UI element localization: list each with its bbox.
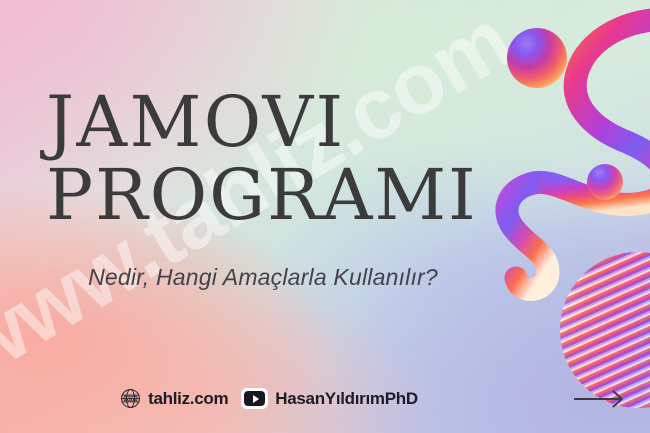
poster-canvas: www.tahliz.com [0,0,650,433]
page-subtitle: Nedir, Hangi Amaçlarla Kullanılır? [0,264,650,291]
globe-www-icon: WWW [120,388,141,409]
website-brand[interactable]: WWW tahliz.com [120,388,228,409]
svg-text:WWW: WWW [125,396,137,401]
website-label: tahliz.com [148,389,228,409]
youtube-channel-label: HasanYıldırımPhD [275,389,418,409]
footer-branding: WWW tahliz.com HasanYıldırımPhD [0,388,650,409]
page-title: JAMOVI PROGRAMI [46,88,586,231]
arrow-right-icon[interactable] [572,388,628,410]
content-block: JAMOVI PROGRAMI Nedir, Hangi Amaçlarla K… [0,0,650,433]
title-line-1: JAMOVI [46,81,346,163]
youtube-play-icon [241,388,268,409]
youtube-brand[interactable]: HasanYıldırımPhD [241,388,418,409]
title-line-2: PROGRAMI [46,161,586,230]
